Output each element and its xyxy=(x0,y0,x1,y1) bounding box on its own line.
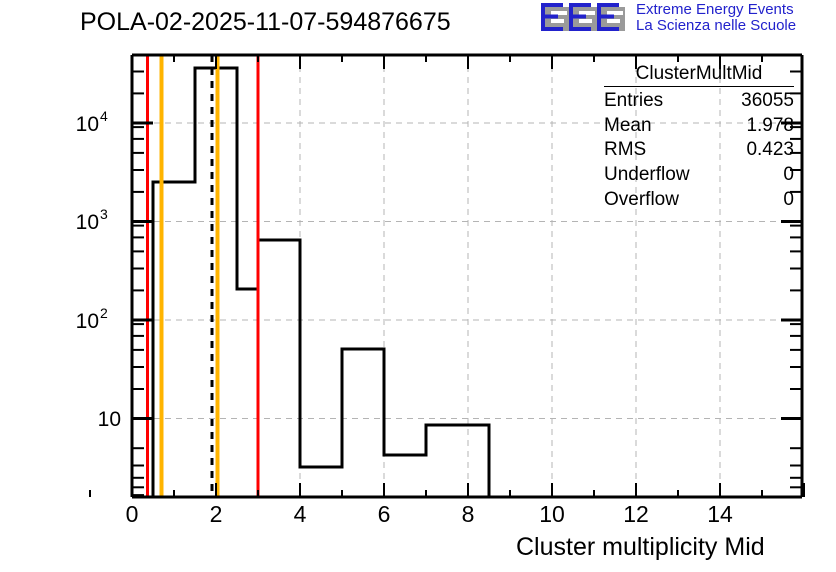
svg-text:10: 10 xyxy=(76,211,99,234)
svg-text:4: 4 xyxy=(100,108,108,124)
ytick-label-100: 10 2 xyxy=(76,305,108,333)
svg-text:10: 10 xyxy=(76,113,99,136)
xaxis-tick-labels: 0 2 4 6 8 10 12 14 xyxy=(126,501,733,527)
stats-value: 0.423 xyxy=(746,138,794,163)
svg-text:10: 10 xyxy=(76,310,99,333)
ytick-label-10000: 10 4 xyxy=(76,108,108,136)
stats-row-rms: RMS 0.423 xyxy=(600,138,798,163)
ytick-label-1000: 10 3 xyxy=(76,206,108,234)
stats-row-mean: Mean 1.978 xyxy=(600,114,798,139)
xtick-label-0: 0 xyxy=(126,501,139,527)
stats-row-entries: Entries 36055 xyxy=(600,89,798,114)
stats-row-overflow: Overflow 0 xyxy=(600,188,798,213)
xtick-label-4: 4 xyxy=(294,501,307,527)
xaxis-ticks xyxy=(90,483,804,497)
stats-key: Underflow xyxy=(604,163,690,188)
xtick-label-6: 6 xyxy=(378,501,391,527)
stats-value: 36055 xyxy=(741,89,794,114)
stats-title: ClusterMultMid xyxy=(604,63,794,87)
yaxis-tick-labels: 10 10 2 10 3 10 4 xyxy=(76,108,121,431)
xtick-label-10: 10 xyxy=(539,501,565,527)
marker-lines xyxy=(148,55,259,497)
xtick-label-12: 12 xyxy=(623,501,649,527)
xtick-label-2: 2 xyxy=(210,501,223,527)
svg-text:3: 3 xyxy=(100,206,108,222)
stats-key: RMS xyxy=(604,138,646,163)
stats-key: Mean xyxy=(604,114,652,139)
xaxis-title: Cluster multiplicity Mid xyxy=(516,533,765,562)
stats-value: 0 xyxy=(783,163,794,188)
histogram-curve xyxy=(153,68,489,497)
stats-value: 0 xyxy=(783,188,794,213)
stats-key: Overflow xyxy=(604,188,679,213)
stats-row-underflow: Underflow 0 xyxy=(600,163,798,188)
root-canvas: POLA-02-2025-11-07-594876675 xyxy=(0,0,836,572)
stats-box: ClusterMultMid Entries 36055 Mean 1.978 … xyxy=(600,63,798,212)
ytick-label-10: 10 xyxy=(98,408,121,431)
svg-text:2: 2 xyxy=(100,305,108,321)
xtick-label-8: 8 xyxy=(462,501,475,527)
stats-value: 1.978 xyxy=(746,114,794,139)
xtick-label-14: 14 xyxy=(707,501,733,527)
stats-key: Entries xyxy=(604,89,663,114)
